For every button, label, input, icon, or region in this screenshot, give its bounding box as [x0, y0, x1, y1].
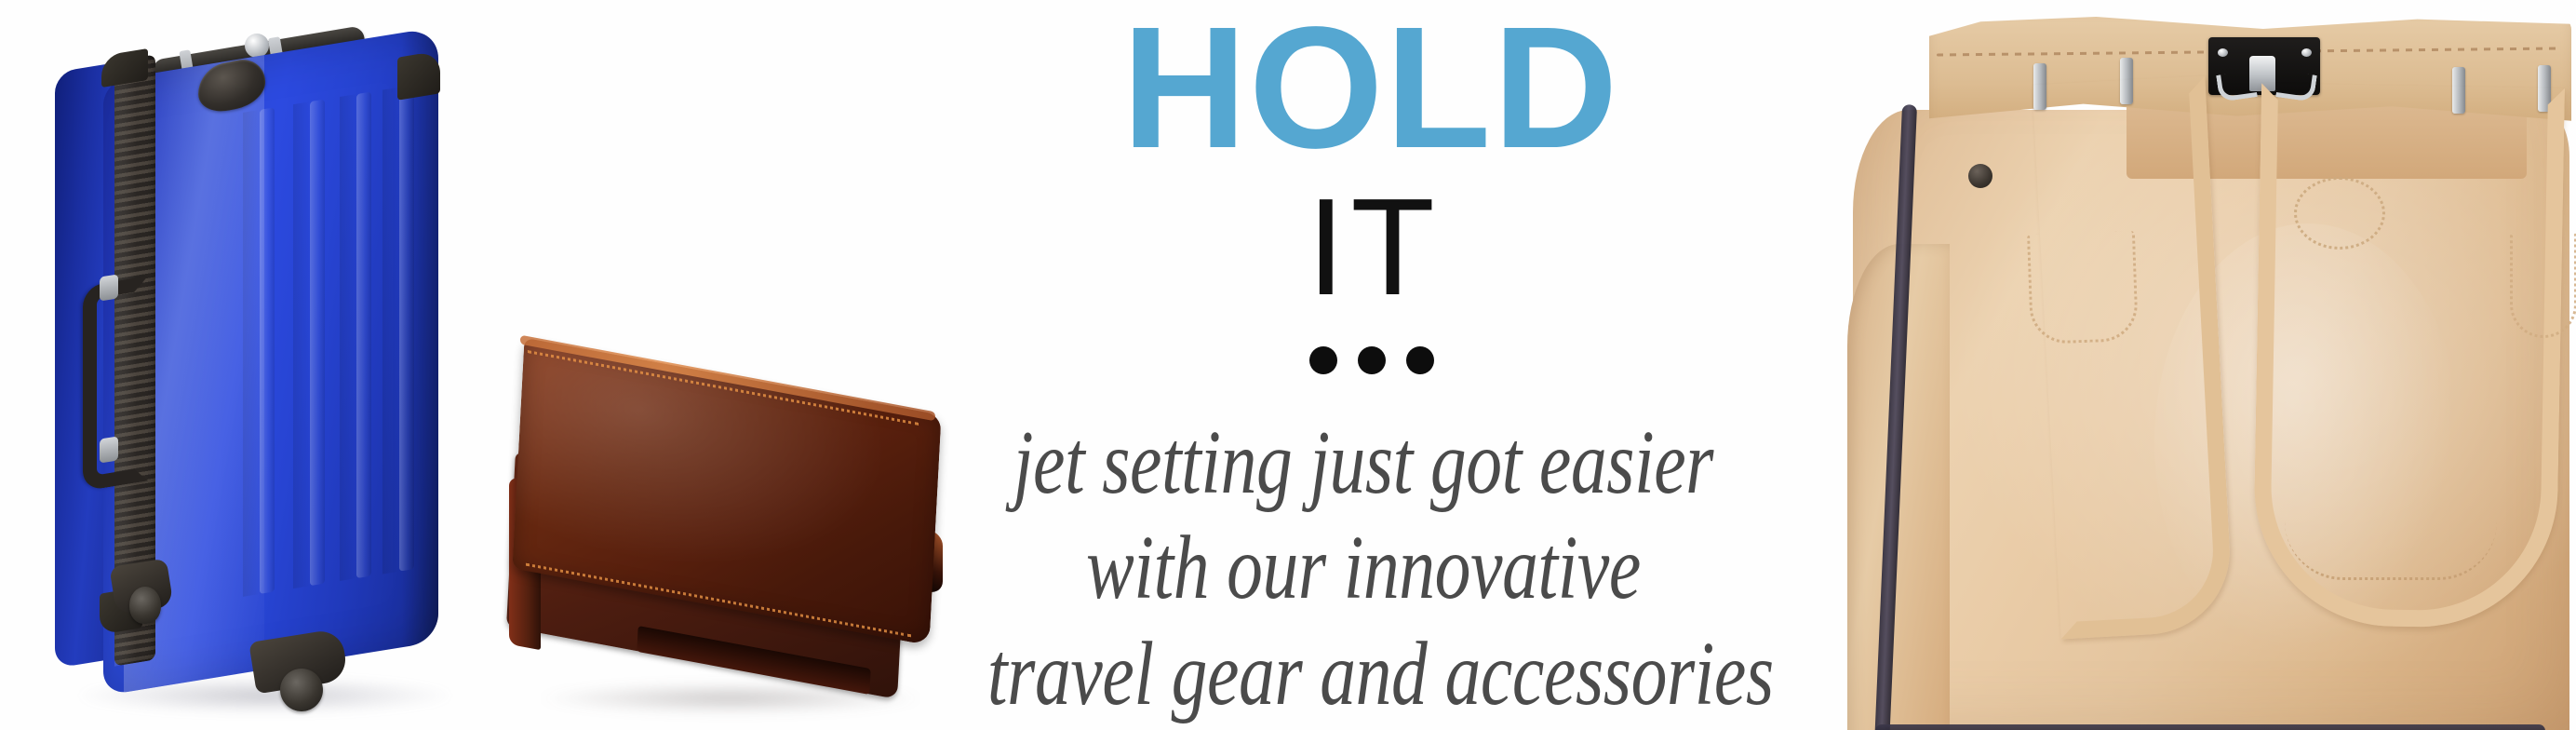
suitcase-rib	[356, 92, 371, 579]
handbag-handle-stitching	[2285, 521, 2497, 580]
suitcase-edge-shade	[401, 27, 438, 647]
handbag-pocket-left	[2027, 231, 2139, 345]
ellipsis-dot	[1358, 346, 1386, 374]
tagline-line-2: with our innovative	[987, 515, 1739, 620]
suitcase-handle-cap	[100, 436, 118, 463]
suitcase-wheel	[129, 587, 161, 624]
headline-hold: HOLD	[893, 2, 1833, 175]
headline-it: IT	[893, 179, 1833, 317]
headline-ellipsis	[893, 346, 1833, 374]
handbag-pocket-right	[2510, 233, 2576, 338]
handbag-circle-stitching	[2294, 177, 2385, 250]
leather-handbag-image[interactable]	[1847, 0, 2576, 730]
suitcase-handle-cap	[100, 274, 118, 301]
rolling-suitcase-image[interactable]	[51, 17, 479, 720]
handbag-lock-rivet	[2218, 48, 2228, 57]
suitcase-wheel	[280, 669, 323, 711]
handbag-handle-left	[2033, 76, 2234, 640]
tagline: jet setting just got easier with our inn…	[893, 410, 1833, 726]
promo-banner: HOLD IT jet setting just got easier with…	[0, 0, 2576, 730]
headline-block: HOLD IT jet setting just got easier with…	[893, 0, 1833, 730]
handbag-rivet	[1968, 164, 1992, 188]
ellipsis-dot	[1309, 346, 1337, 374]
suitcase-rib	[310, 100, 325, 587]
suitcase-corner-guard	[397, 50, 440, 100]
handbag-bottom-piping	[1875, 724, 2545, 730]
ellipsis-dot	[1406, 346, 1434, 374]
tagline-line-1: jet setting just got easier	[987, 410, 1739, 515]
tagline-line-3: travel gear and accessories	[987, 621, 1739, 726]
handbag-lock-rivet	[2301, 48, 2312, 57]
